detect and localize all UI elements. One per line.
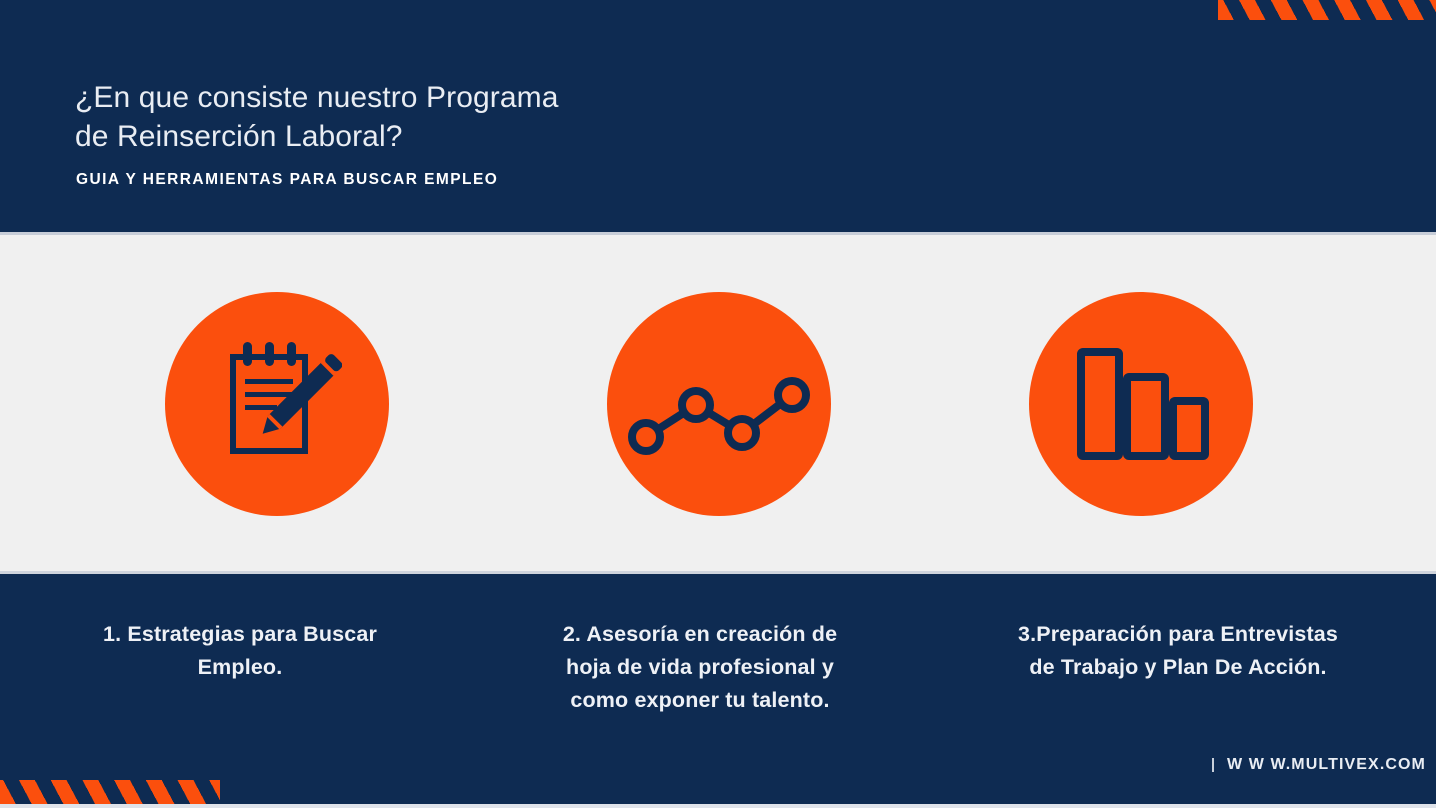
url-text: W W W.MULTIVEX.COM — [1227, 756, 1426, 774]
bottom-hairline — [0, 804, 1436, 808]
slide-canvas: ¿En que consiste nuestro Programa de Rei… — [0, 0, 1436, 808]
step-1-caption-line1: 1. Estrategias para Buscar — [103, 622, 377, 646]
website-url[interactable]: W W W.MULTIVEX.COM — [1212, 756, 1426, 774]
header-band: ¿En que consiste nuestro Programa de Rei… — [0, 0, 1436, 232]
step-3-caption-line1: 3.Preparación para Entrevistas — [1018, 622, 1338, 646]
icons-row — [0, 232, 1436, 574]
step-1-caption-line2: Empleo. — [198, 655, 283, 679]
bar-chart-icon — [1071, 344, 1211, 464]
bottom-left-stripes-decoration — [0, 780, 220, 804]
step-2-caption-line3: como exponer tu talento. — [570, 688, 829, 712]
page-subtitle: GUIA Y HERRAMIENTAS PARA BUSCAR EMPLEO — [76, 171, 498, 189]
step-3-icon-circle — [1029, 292, 1253, 516]
step-1-icon-circle — [165, 292, 389, 516]
captions-row: 1. Estrategias para Buscar Empleo. 2. As… — [0, 574, 1436, 717]
step-2-caption: 2. Asesoría en creación de hoja de vida … — [480, 574, 920, 717]
step-2-caption-line2: hoja de vida profesional y — [566, 655, 834, 679]
page-title-line2: de Reinserción Laboral? — [75, 120, 403, 153]
line-chart-icon — [624, 349, 814, 459]
step-2-icon-circle — [607, 292, 831, 516]
step-1-caption: 1. Estrategias para Buscar Empleo. — [0, 574, 480, 717]
page-title: ¿En que consiste nuestro Programa de Rei… — [75, 78, 715, 156]
page-title-line1: ¿En que consiste nuestro Programa — [75, 81, 559, 114]
notepad-pencil-icon — [212, 339, 342, 469]
url-separator-bar — [1212, 758, 1214, 772]
step-2-caption-line1: 2. Asesoría en creación de — [563, 622, 837, 646]
step-3-caption-line2: de Trabajo y Plan De Acción. — [1029, 655, 1326, 679]
top-right-stripes-decoration — [1218, 0, 1436, 20]
step-3-caption: 3.Preparación para Entrevistas de Trabaj… — [920, 574, 1436, 717]
